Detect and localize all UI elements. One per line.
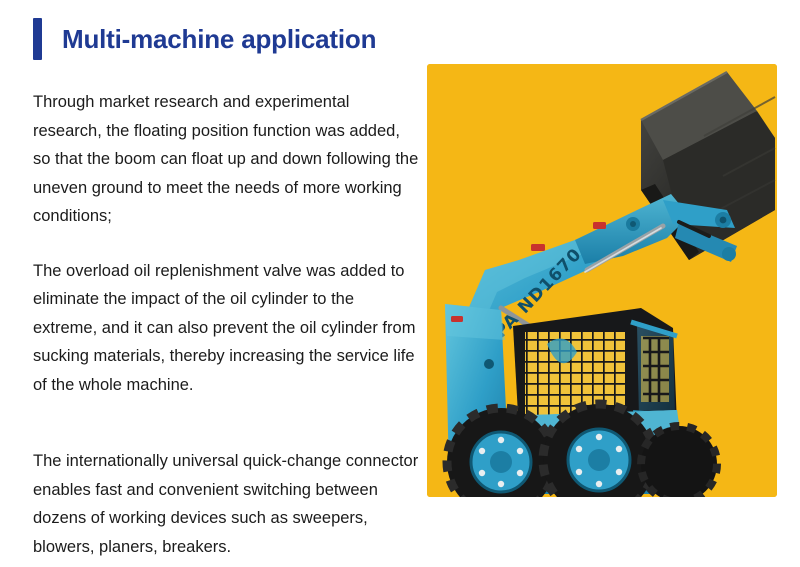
heading-accent-bar xyxy=(33,18,42,60)
paragraph-3: The internationally universal quick-chan… xyxy=(33,447,421,561)
body-copy: Through market research and experimental… xyxy=(33,88,421,561)
skid-steer-loader-illustration: RIPPA ND1670 xyxy=(427,64,777,497)
slide-page: Multi-machine application Through market… xyxy=(0,0,800,567)
product-photo: RIPPA ND1670 xyxy=(427,64,777,497)
wheel-front xyxy=(543,404,655,497)
page-heading: Multi-machine application xyxy=(33,18,376,60)
page-title: Multi-machine application xyxy=(62,26,376,52)
paragraph-2: The overload oil replenishment valve was… xyxy=(33,257,421,400)
paragraph-1: Through market research and experimental… xyxy=(33,88,421,231)
